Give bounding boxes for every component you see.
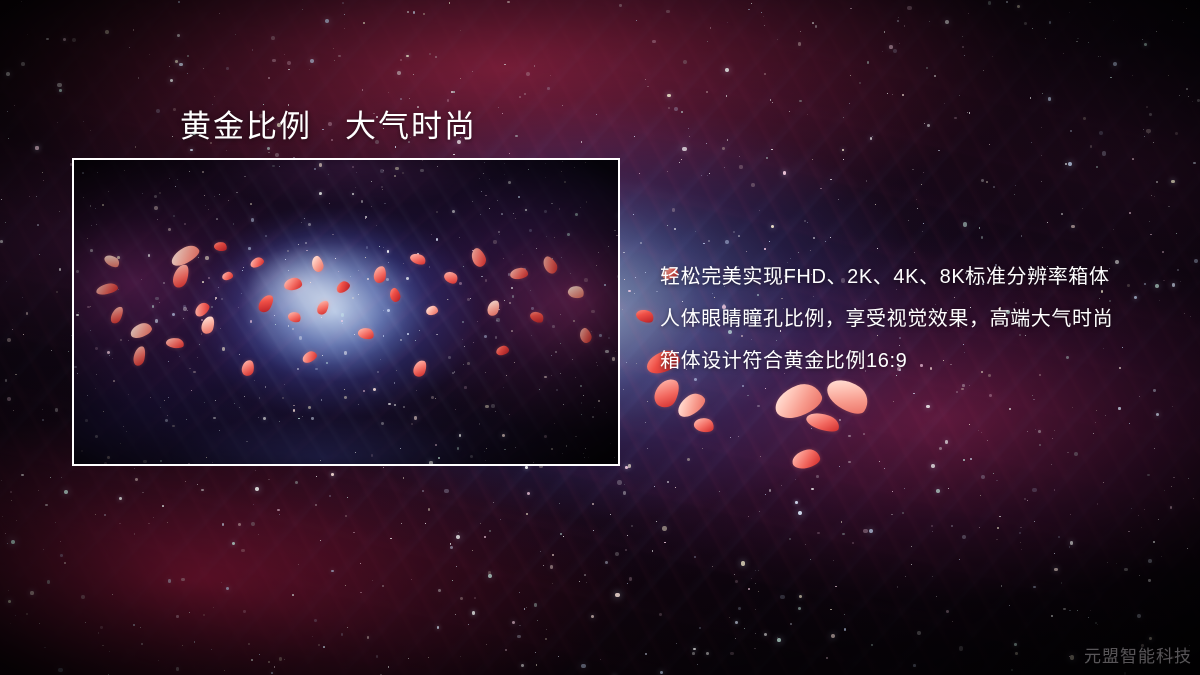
- petal-shape: [770, 379, 825, 424]
- petal-shape: [790, 447, 821, 470]
- panel-vignette: [74, 160, 618, 464]
- watermark-label: 元盟智能科技: [1084, 642, 1192, 667]
- petal-shape: [693, 416, 715, 434]
- body-text-block: 轻松完美实现FHD、2K、4K、8K标准分辨率箱体 人体眼睛瞳孔比例，享受视觉效…: [660, 256, 1180, 382]
- petal-shape: [804, 409, 841, 435]
- petal-shape: [674, 389, 709, 421]
- presentation-slide: 黄金比例 大气时尚 轻松完美实现FHD、2K、4K、8K标准分辨率箱体 人体眼睛…: [0, 0, 1200, 675]
- body-line-1: 轻松完美实现FHD、2K、4K、8K标准分辨率箱体: [660, 256, 1180, 298]
- slide-title: 黄金比例 大气时尚: [180, 101, 477, 146]
- petal-shape: [634, 307, 655, 325]
- nebula-preview-frame: [72, 158, 620, 466]
- body-line-3: 箱体设计符合黄金比例16:9: [660, 340, 1180, 382]
- nebula-preview-image: [74, 160, 618, 464]
- body-line-2: 人体眼睛瞳孔比例，享受视觉效果，高端大气时尚: [660, 298, 1180, 340]
